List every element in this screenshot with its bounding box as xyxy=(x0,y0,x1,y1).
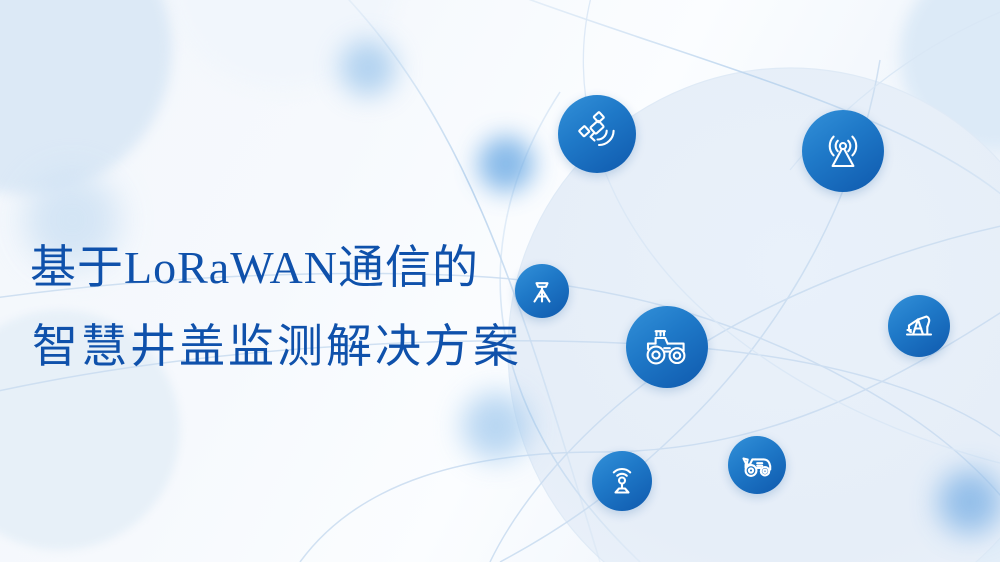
survey-tripod-icon xyxy=(526,275,558,307)
tractor-icon xyxy=(642,322,692,372)
node-tractor xyxy=(626,306,708,388)
slide-canvas: 基于LoRaWAN通信的 智慧井盖监测解决方案 xyxy=(0,0,1000,562)
node-harvester xyxy=(728,436,786,494)
decorative-blob xyxy=(836,404,1000,562)
decorative-blob xyxy=(900,0,1000,150)
node-satellite xyxy=(558,95,636,173)
oil-pumpjack-icon xyxy=(900,307,938,345)
title-line-2: 智慧井盖监测解决方案 xyxy=(30,307,522,386)
decorative-node-dot xyxy=(462,392,530,460)
decorative-node-dot xyxy=(340,40,396,96)
slide-title: 基于LoRaWAN通信的 智慧井盖监测解决方案 xyxy=(30,228,522,386)
node-sensor xyxy=(592,451,652,511)
node-pumpjack xyxy=(888,295,950,357)
decorative-node-dot xyxy=(938,470,1000,534)
decorative-blob xyxy=(168,0,398,90)
harvester-vehicle-icon xyxy=(739,447,775,483)
radio-tower-icon xyxy=(819,127,867,175)
decorative-blob xyxy=(0,0,172,194)
node-antenna xyxy=(802,110,884,192)
decorative-node-dot xyxy=(478,136,534,192)
wireless-sensor-icon xyxy=(604,463,640,499)
title-line-1: 基于LoRaWAN通信的 xyxy=(30,228,522,307)
satellite-signal-icon xyxy=(574,111,620,157)
node-tripod xyxy=(515,264,569,318)
